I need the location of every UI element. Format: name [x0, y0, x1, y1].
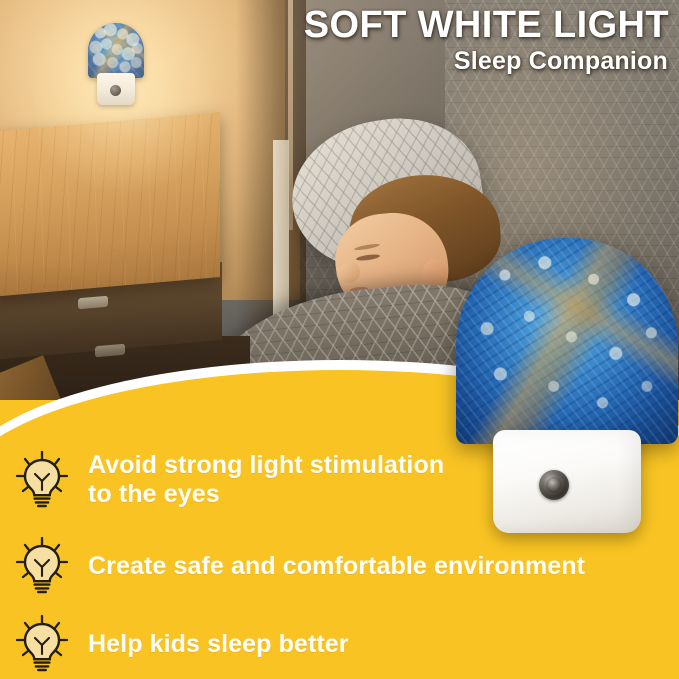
wall-shadow — [236, 0, 306, 330]
lightbulb-icon — [14, 536, 70, 596]
night-light-shade-small — [88, 23, 144, 78]
lightbulb-icon — [14, 614, 70, 674]
almond-blossom-artwork — [456, 238, 678, 444]
nightstand-top — [0, 112, 220, 297]
lightbulb-icon — [14, 450, 70, 510]
feature-item: Create safe and comfortable environment — [14, 536, 585, 596]
light-sensor-dial-small — [110, 85, 121, 96]
feature-list: Avoid strong light stimulation to the ey… — [0, 432, 679, 679]
product-banner: SOFT WHITE LIGHT Sleep Companion — [0, 0, 679, 679]
feature-label: Avoid strong light stimulation to the ey… — [88, 451, 444, 509]
feature-item: Avoid strong light stimulation to the ey… — [14, 450, 444, 510]
wood-grain — [0, 112, 220, 297]
page-title: SOFT WHITE LIGHT — [304, 4, 669, 47]
feature-item: Help kids sleep better — [14, 614, 349, 674]
almond-blossom-artwork — [88, 23, 144, 78]
page-subtitle: Sleep Companion — [454, 47, 668, 76]
wall-night-light — [88, 23, 144, 103]
feature-label: Help kids sleep better — [88, 630, 349, 659]
feature-label: Create safe and comfortable environment — [88, 552, 585, 581]
night-light-shade — [456, 238, 678, 444]
